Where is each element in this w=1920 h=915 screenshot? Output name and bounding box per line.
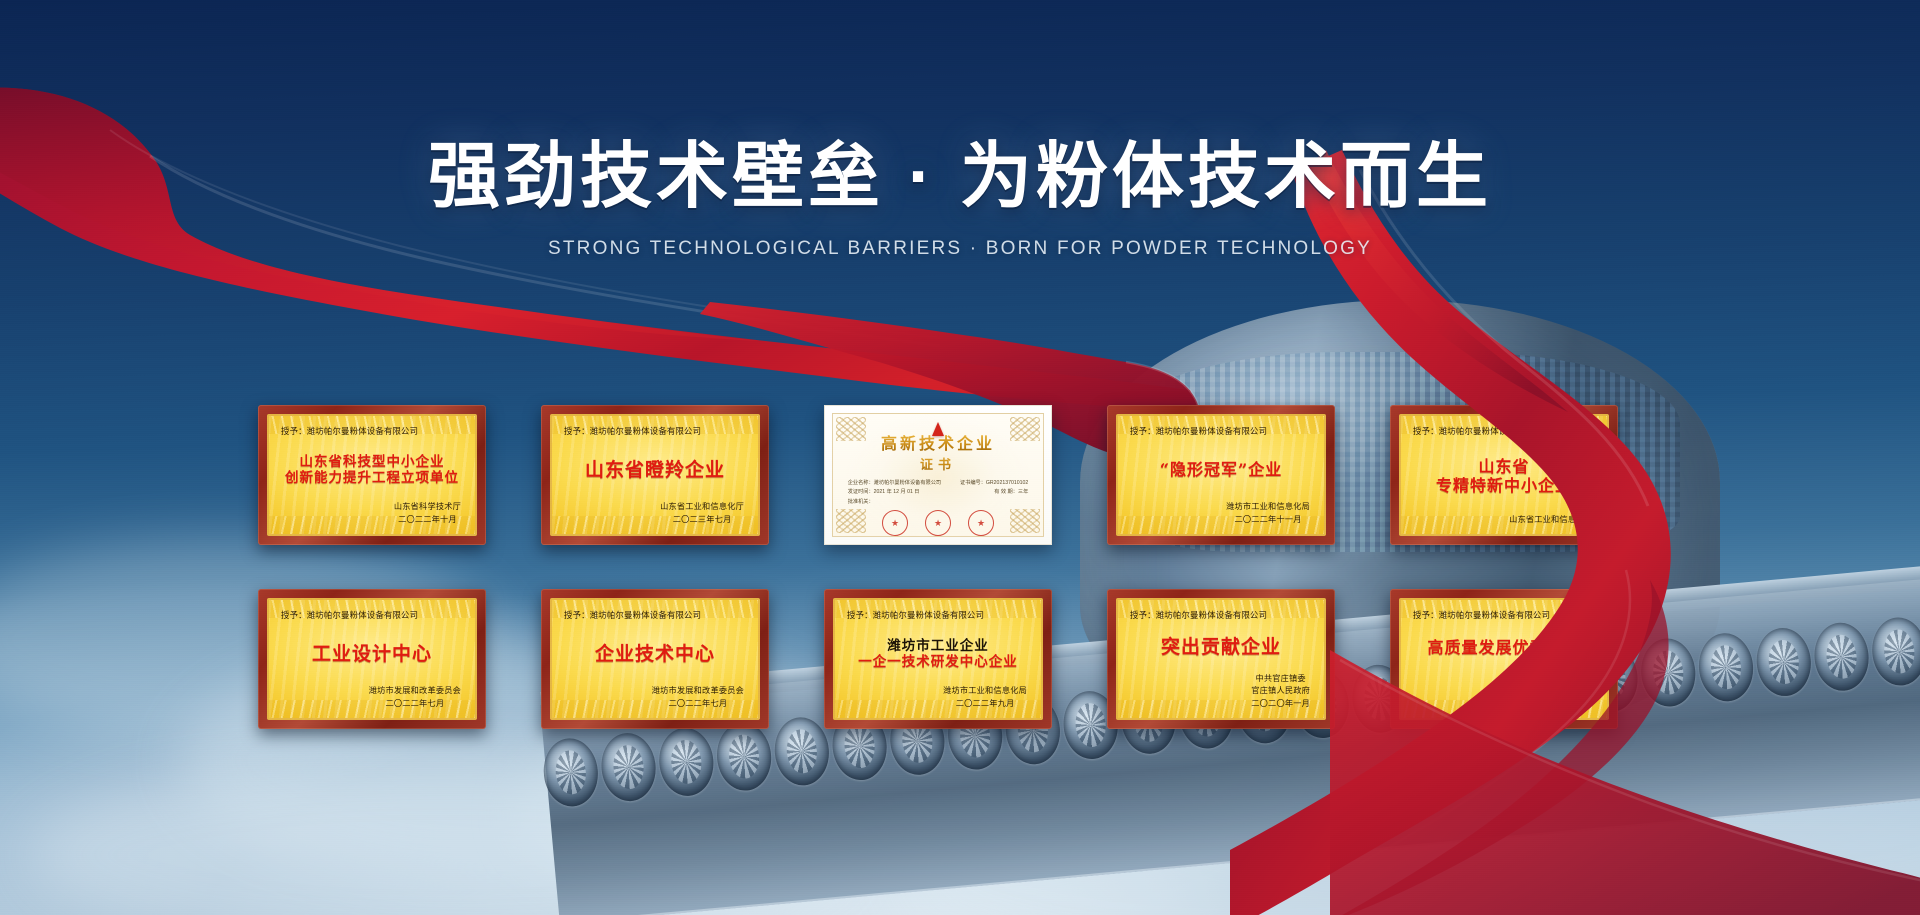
award-plaque-high-quality-development-excellent-enterprise[interactable]: 授予：潍坊帕尔曼粉体设备有限公司高质量发展优秀企业新安街道党工委新安街道办事处二… [1390,589,1618,729]
plaque-date: 二〇二二年九月 [943,698,1027,710]
plaque-date: 二〇二二年十一月 [1226,514,1310,526]
plaque-inner: 授予：潍坊帕尔曼粉体设备有限公司高质量发展优秀企业新安街道党工委新安街道办事处二… [1399,598,1609,720]
plaque-inner: 授予：潍坊帕尔曼粉体设备有限公司工业设计中心潍坊市发展和改革委员会二〇二二年七月 [267,598,477,720]
official-seal-icon [882,510,908,536]
plaque-title-block: 高质量发展优秀企业 [1413,623,1595,673]
plaque-grant-label: 授予：潍坊帕尔曼粉体设备有限公司 [1413,609,1595,621]
plaque-footer: 新安街道党工委新安街道办事处二〇二三年二月 [1534,673,1595,710]
plaque-title-block: 山东省瞪羚企业 [564,439,746,501]
plaque-grant-label: 授予：潍坊帕尔曼粉体设备有限公司 [1130,425,1312,437]
certificate-fields: 企业名称：潍坊帕尔曼粉体设备有限公司证书编号：GR202137010102发证时… [848,479,1029,509]
award-plaque-one-enterprise-one-technology-rd-center[interactable]: 授予：潍坊帕尔曼粉体设备有限公司潍坊市工业企业一企一技术研发中心企业潍坊市工业和… [824,589,1052,729]
plaque-date: 二〇二二年十月 [394,514,461,526]
plaque-title-line: 一企一技术研发中心企业 [858,655,1018,670]
plaque-title-block: 潍坊市工业企业一企一技术研发中心企业 [847,623,1029,685]
plaque-inner: 授予：潍坊帕尔曼粉体设备有限公司山东省专精特新中小企业山东省工业和信息化厅 [1399,414,1609,536]
plaque-issuer: 潍坊市工业和信息化局 [1226,501,1310,513]
plaque-date: 二〇二二年七月 [369,698,461,710]
official-seal-icon [968,510,994,536]
plaque-date: 二〇二〇年一月 [1251,698,1310,710]
certificate-title: 高新技术企业 [881,435,995,453]
plaque-issuer: 潍坊市发展和改革委员会 [369,685,461,697]
award-plaque-enterprise-technology-center[interactable]: 授予：潍坊帕尔曼粉体设备有限公司企业技术中心潍坊市发展和改革委员会二〇二二年七月 [541,589,769,729]
award-plaque-hidden-champion[interactable]: 授予：潍坊帕尔曼粉体设备有限公司“隐形冠军”企业潍坊市工业和信息化局二〇二二年十… [1107,405,1335,545]
page-title: 强劲技术壁垒 · 为粉体技术而生 [0,140,1920,216]
certificate-field-row: 批准机关： [848,498,1029,508]
plaque-title-line: 创新能力提升工程立项单位 [285,471,459,486]
plaque-title-block: 突出贡献企业 [1130,623,1312,673]
official-seal-icon [925,510,951,536]
plaque-title-block: 工业设计中心 [281,623,463,685]
plaque-inner: 授予：潍坊帕尔曼粉体设备有限公司山东省瞪羚企业山东省工业和信息化厅二〇二三年七月 [550,414,760,536]
plaque-footer: 山东省科学技术厅二〇二二年十月 [394,501,463,526]
plaque-issuer: 官庄镇人民政府 [1251,685,1310,697]
plaque-date: 二〇二二年七月 [652,698,744,710]
plaque-grant-label: 授予：潍坊帕尔曼粉体设备有限公司 [847,609,1029,621]
award-plaque-shandong-gazelle[interactable]: 授予：潍坊帕尔曼粉体设备有限公司山东省瞪羚企业山东省工业和信息化厅二〇二三年七月 [541,405,769,545]
certificate-seals [882,510,994,536]
plaque-title-line: 高质量发展优秀企业 [1427,639,1580,657]
plaque-grant-label: 授予：潍坊帕尔曼粉体设备有限公司 [564,609,746,621]
plaque-issuer: 山东省科学技术厅 [394,501,461,513]
certificate-corner-ornament-icon [836,509,866,533]
certificate-field: 证书编号：GR202137010102 [960,479,1028,489]
plaque-inner: 授予：潍坊帕尔曼粉体设备有限公司山东省科技型中小企业创新能力提升工程立项单位山东… [267,414,477,536]
award-plaque-industrial-design-center[interactable]: 授予：潍坊帕尔曼粉体设备有限公司工业设计中心潍坊市发展和改革委员会二〇二二年七月 [258,589,486,729]
plaque-issuer: 山东省工业和信息化厅 [660,501,744,513]
plaque-title-line: 工业设计中心 [312,644,432,665]
certificate-field-row: 企业名称：潍坊帕尔曼粉体设备有限公司证书编号：GR202137010102 [848,479,1029,489]
plaque-title-line: “隐形冠军”企业 [1160,461,1282,479]
award-certificate-high-tech-enterprise-certificate[interactable]: 高新技术企业证书企业名称：潍坊帕尔曼粉体设备有限公司证书编号：GR2021370… [824,405,1052,545]
plaque-issuer: 中共官庄镇委 [1251,673,1310,685]
plaque-title-block: 山东省科技型中小企业创新能力提升工程立项单位 [281,439,463,501]
certificate-field: 企业名称：潍坊帕尔曼粉体设备有限公司 [848,479,941,489]
certificate-field: 批准机关： [848,498,874,508]
plaque-date: 二〇二三年七月 [660,514,744,526]
plaque-title-block: 企业技术中心 [564,623,746,685]
plaque-issuer: 山东省工业和信息化厅 [1509,514,1593,526]
plaque-grant-label: 授予：潍坊帕尔曼粉体设备有限公司 [281,609,463,621]
plaque-inner: 授予：潍坊帕尔曼粉体设备有限公司“隐形冠军”企业潍坊市工业和信息化局二〇二二年十… [1116,414,1326,536]
plaque-grant-label: 授予：潍坊帕尔曼粉体设备有限公司 [564,425,746,437]
plaque-issuer: 新安街道办事处 [1534,685,1593,697]
award-plaque-shandong-specialized-sme[interactable]: 授予：潍坊帕尔曼粉体设备有限公司山东省专精特新中小企业山东省工业和信息化厅 [1390,405,1618,545]
headline-block: 强劲技术壁垒 · 为粉体技术而生 STRONG TECHNOLOGICAL BA… [0,140,1920,260]
certificate-subtitle: 证书 [920,454,956,473]
plaque-footer: 潍坊市工业和信息化局二〇二二年九月 [943,685,1029,710]
plaque-title-line: 山东省瞪羚企业 [585,460,725,481]
plaque-title-block: “隐形冠军”企业 [1130,439,1312,501]
plaque-title-line: 潍坊市工业企业 [887,639,989,654]
awards-grid: 授予：潍坊帕尔曼粉体设备有限公司山东省科技型中小企业创新能力提升工程立项单位山东… [258,405,1678,729]
plaque-inner: 授予：潍坊帕尔曼粉体设备有限公司潍坊市工业企业一企一技术研发中心企业潍坊市工业和… [833,598,1043,720]
flame-emblem-icon [932,422,944,436]
plaque-title-line: 突出贡献企业 [1161,637,1281,658]
plaque-issuer: 潍坊市工业和信息化局 [943,685,1027,697]
plaque-footer: 山东省工业和信息化厅 [1509,514,1595,526]
page-subtitle: STRONG TECHNOLOGICAL BARRIERS · BORN FOR… [0,238,1920,260]
plaque-grant-label: 授予：潍坊帕尔曼粉体设备有限公司 [1130,609,1312,621]
certificate-inner: 高新技术企业证书企业名称：潍坊帕尔曼粉体设备有限公司证书编号：GR2021370… [832,413,1044,537]
certificate-field: 发证时间：2021 年 12 月 01 日 [848,488,920,498]
plaque-date: 二〇二三年二月 [1534,698,1593,710]
plaque-issuer: 新安街道党工委 [1534,673,1593,685]
plaque-inner: 授予：潍坊帕尔曼粉体设备有限公司企业技术中心潍坊市发展和改革委员会二〇二二年七月 [550,598,760,720]
plaque-issuer: 潍坊市发展和改革委员会 [652,685,744,697]
certificate-corner-ornament-icon [1010,417,1040,441]
certificate-corner-ornament-icon [1010,509,1040,533]
plaque-title-line: 企业技术中心 [595,644,715,665]
plaque-title-line: 山东省 [1478,458,1529,476]
certificate-field: 有 效 期：三年 [994,488,1028,498]
plaque-title-line: 山东省科技型中小企业 [300,455,445,470]
plaque-footer: 潍坊市工业和信息化局二〇二二年十一月 [1226,501,1312,526]
plaque-grant-label: 授予：潍坊帕尔曼粉体设备有限公司 [1413,425,1595,437]
award-plaque-shandong-sci-tech-sme[interactable]: 授予：潍坊帕尔曼粉体设备有限公司山东省科技型中小企业创新能力提升工程立项单位山东… [258,405,486,545]
plaque-footer: 潍坊市发展和改革委员会二〇二二年七月 [369,685,463,710]
honors-banner: 强劲技术壁垒 · 为粉体技术而生 STRONG TECHNOLOGICAL BA… [0,0,1920,915]
plaque-grant-label: 授予：潍坊帕尔曼粉体设备有限公司 [281,425,463,437]
plaque-footer: 中共官庄镇委官庄镇人民政府二〇二〇年一月 [1251,673,1312,710]
plaque-title-block: 山东省专精特新中小企业 [1413,439,1595,514]
plaque-footer: 山东省工业和信息化厅二〇二三年七月 [660,501,746,526]
certificate-field-row: 发证时间：2021 年 12 月 01 日有 效 期：三年 [848,488,1029,498]
plaque-title-line: 专精特新中小企业 [1436,477,1572,495]
award-plaque-outstanding-contribution-enterprise[interactable]: 授予：潍坊帕尔曼粉体设备有限公司突出贡献企业中共官庄镇委官庄镇人民政府二〇二〇年… [1107,589,1335,729]
certificate-corner-ornament-icon [836,417,866,441]
plaque-inner: 授予：潍坊帕尔曼粉体设备有限公司突出贡献企业中共官庄镇委官庄镇人民政府二〇二〇年… [1116,598,1326,720]
plaque-footer: 潍坊市发展和改革委员会二〇二二年七月 [652,685,746,710]
